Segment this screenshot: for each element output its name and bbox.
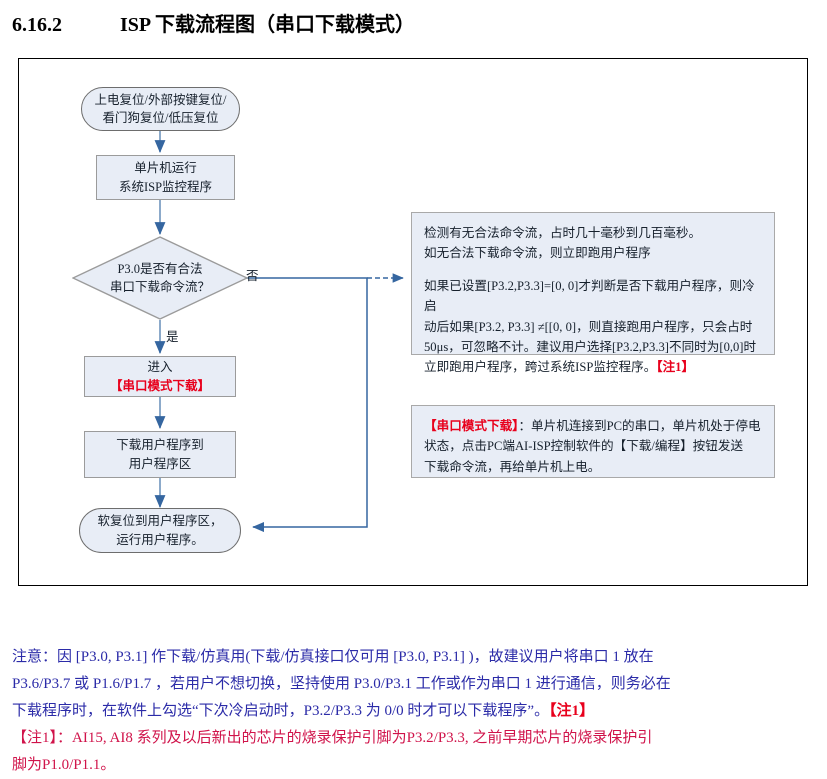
flow-node-enter-serial-mode: 进入 【串口模式下载】 bbox=[84, 356, 236, 397]
note-line-5: 脚为P1.0/P1.1。 bbox=[12, 752, 818, 779]
callout1-p2-l4: 立即跑用户程序，跨过系统ISP监控程序。【注1】 bbox=[424, 357, 762, 377]
callout2-l1-rest: ：单片机连接到PC的串口，单片机处于停电 bbox=[518, 419, 760, 433]
callout2-l2: 状态，点击PC端AI-ISP控制软件的【下载/编程】按钮发送 bbox=[424, 436, 762, 456]
page-title: 6.16.2ISP 下载流程图（串口下载模式） bbox=[12, 8, 812, 37]
flow-node-isp-monitor: 单片机运行 系统ISP监控程序 bbox=[96, 155, 235, 200]
section-number: 6.16.2 bbox=[12, 14, 120, 37]
note-line-1: 注意：因 [P3.0, P3.1] 作下载/仿真用(下载/仿真接口仅可用 [P3… bbox=[12, 644, 818, 671]
flow-node-download-line1: 下载用户程序到 bbox=[116, 436, 204, 454]
flow-node-download-user-program: 下载用户程序到 用户程序区 bbox=[84, 431, 236, 478]
callout1-p2-l4-text: 立即跑用户程序，跨过系统ISP监控程序。 bbox=[424, 360, 656, 374]
callout1-p1-l1: 检测有无合法命令流，占时几十毫秒到几百毫秒。 bbox=[424, 223, 762, 243]
callout1-note-ref: 【注1】 bbox=[656, 360, 694, 374]
note-line-2: P3.6/P3.7 或 P1.6/P1.7 ，若用户不想切换，坚持使用 P3.0… bbox=[12, 671, 818, 698]
flow-node-decision: P3.0是否有合法 串口下载命令流？ bbox=[72, 236, 248, 320]
callout1-p2-l2: 动后如果[P3.2, P3.3] ≠[[0, 0]，则直接跑用户程序，只会占时 bbox=[424, 317, 762, 337]
callout2-l3: 下载命令流，再给单片机上电。 bbox=[424, 457, 762, 477]
flow-node-start-line2: 看门狗复位/低压复位 bbox=[95, 109, 227, 127]
footer-notes: 注意：因 [P3.0, P3.1] 作下载/仿真用(下载/仿真接口仅可用 [P3… bbox=[12, 644, 818, 779]
note-line-3: 下载程序时，在软件上勾选“下次冷启动时，P3.2/P3.3 为 0/0 时才可以… bbox=[12, 698, 818, 725]
callout2-tag: 【串口模式下载】 bbox=[424, 419, 518, 433]
flow-node-decision-line1: P3.0是否有合法 bbox=[117, 260, 202, 278]
flow-node-download-line2: 用户程序区 bbox=[116, 455, 204, 473]
flow-node-start: 上电复位/外部按键复位/ 看门狗复位/低压复位 bbox=[81, 87, 240, 131]
note-line-3-text: 下载程序时，在软件上勾选“下次冷启动时，P3.2/P3.3 为 0/0 时才可以… bbox=[12, 703, 549, 719]
callout1-p2-l3: 50μs，可忽略不计。建议用户选择[P3.2,P3.3]不同时为[0,0]时 bbox=[424, 337, 762, 357]
note-line-3-tag: 【注1】 bbox=[549, 703, 594, 719]
section-title: ISP 下载流程图（串口下载模式） bbox=[120, 14, 415, 36]
flow-node-soft-reset: 软复位到用户程序区， 运行用户程序。 bbox=[79, 508, 241, 553]
flow-node-isp-monitor-line1: 单片机运行 bbox=[119, 159, 212, 177]
flow-node-isp-monitor-line2: 系统ISP监控程序 bbox=[119, 178, 212, 196]
callout1-p2-l1: 如果已设置[P3.2,P3.3]=[0, 0]才判断是否下载用户程序，则冷启 bbox=[424, 276, 762, 317]
callout2-l1: 【串口模式下载】：单片机连接到PC的串口，单片机处于停电 bbox=[424, 416, 762, 436]
flow-node-enter-serial-mode-line1: 进入 bbox=[110, 358, 210, 376]
flow-node-decision-line2: 串口下载命令流？ bbox=[110, 278, 210, 296]
edge-label-yes: 是 bbox=[166, 326, 179, 345]
flow-node-start-line1: 上电复位/外部按键复位/ bbox=[95, 91, 227, 109]
callout1-p1-l2: 如无合法下载命令流，则立即跑用户程序 bbox=[424, 243, 762, 263]
flow-node-soft-reset-line2: 运行用户程序。 bbox=[97, 531, 222, 549]
edge-label-no: 否 bbox=[246, 265, 259, 284]
callout-serial-mode-download: 【串口模式下载】：单片机连接到PC的串口，单片机处于停电 状态，点击PC端AI-… bbox=[411, 405, 775, 478]
callout-detect-command-stream: 检测有无合法命令流，占时几十毫秒到几百毫秒。 如无合法下载命令流，则立即跑用户程… bbox=[411, 212, 775, 355]
flow-node-enter-serial-mode-line2: 【串口模式下载】 bbox=[110, 377, 210, 395]
flow-node-soft-reset-line1: 软复位到用户程序区， bbox=[97, 512, 222, 530]
note-line-4: 【注1】：AI15, AI8 系列及以后新出的芯片的烧录保护引脚为P3.2/P3… bbox=[12, 725, 818, 752]
